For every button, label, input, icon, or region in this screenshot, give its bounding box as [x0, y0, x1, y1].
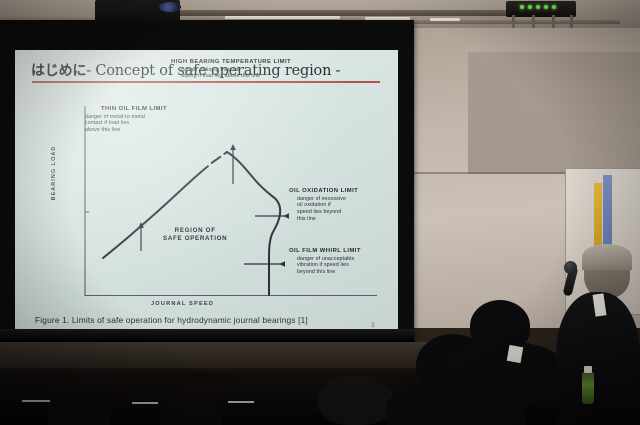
ceiling-light-slot — [225, 16, 340, 19]
curve-apex-dashed — [201, 162, 213, 172]
network-device — [506, 1, 576, 17]
projection-screen: はじめに- Concept of safe operating region - — [0, 20, 414, 345]
figure-chart: BEARING LOAD JOURNAL SPEED THIN OIL FILM… — [31, 92, 383, 310]
annotation-heading: OIL FILM WHIRL LIMIT — [289, 248, 361, 256]
annotation-oil-oxidation-limit: OIL OXIDATION LIMIT danger of excessive … — [289, 188, 358, 222]
annotation-body-line: beyond this line — [289, 269, 361, 276]
audience-member-right-shoulders — [446, 342, 566, 402]
presentation-photo: はじめに- Concept of safe operating region - — [0, 0, 640, 425]
microphone-head-icon — [564, 261, 577, 274]
chair — [48, 400, 110, 425]
annotation-heading: THIN OIL FILM LIMIT — [85, 106, 167, 114]
chair-highlight — [22, 400, 50, 402]
status-led-icon — [536, 5, 540, 9]
annotation-body-line: danger of metal-to-metal — [85, 114, 167, 121]
ceiling-light-slot — [430, 18, 460, 21]
curve-oil-oxidation-limit — [272, 196, 280, 234]
presentation-slide: はじめに- Concept of safe operating region - — [15, 50, 398, 345]
water-bottle — [582, 372, 594, 404]
annotation-body-line: speed lies beyond — [289, 209, 358, 216]
water-bottle-cap — [584, 366, 592, 373]
audience-member-right-collar — [507, 345, 524, 363]
presenter-hair — [582, 244, 632, 270]
x-axis-label: JOURNAL SPEED — [151, 301, 214, 307]
screen-bottom-bar — [0, 329, 414, 342]
annotation-heading: OIL OXIDATION LIMIT — [289, 188, 358, 196]
region-label-safe-operation: REGION OF SAFE OPERATION — [163, 227, 227, 244]
projector-lens-icon — [159, 2, 181, 12]
chair-highlight — [228, 401, 254, 403]
slide-page-number: 3 — [371, 322, 375, 329]
annotation-body-line: oil oxidation if — [289, 202, 358, 209]
audience-member-front-left — [318, 375, 394, 425]
annotation-heading: HIGH BEARING TEMPERATURE LIMIT — [171, 59, 291, 67]
annotation-high-bearing-temperature-limit: HIGH BEARING TEMPERATURE LIMIT danger of… — [171, 59, 291, 80]
chair — [160, 400, 222, 425]
curve-thin-oil-film-limit — [103, 172, 201, 258]
status-led-icon — [544, 5, 548, 9]
blackboard — [0, 342, 430, 370]
status-led-icon — [520, 5, 524, 9]
annotation-body-line: wiping if load lies above this line — [171, 73, 291, 80]
annotation-body-line: danger of unacceptable — [289, 256, 361, 263]
status-led-icon — [552, 5, 556, 9]
figure-caption: Figure 1. Limits of safe operation for h… — [35, 315, 308, 325]
title-underline-rule — [32, 81, 380, 83]
region-label-line: SAFE OPERATION — [163, 235, 227, 243]
annotation-body-line: contact if load lies — [85, 120, 167, 127]
annotation-body-line: this line — [289, 216, 358, 223]
annotation-body-line: danger of excessive — [289, 196, 358, 203]
annotation-oil-film-whirl-limit: OIL FILM WHIRL LIMIT danger of unaccepta… — [289, 248, 361, 276]
curve-high-bearing-temperature-limit — [227, 152, 272, 196]
slide-title-end-dash: - — [336, 63, 341, 79]
chair-highlight — [132, 402, 158, 404]
wall-panel — [468, 52, 640, 174]
slide-title-separator: - — [86, 63, 91, 79]
y-axis-label: BEARING LOAD — [51, 130, 57, 216]
annotation-thin-oil-film-limit: THIN OIL FILM LIMIT danger of metal-to-m… — [85, 106, 167, 134]
annotation-body-line: vibration if speed lies — [289, 262, 361, 269]
curve-apex-dashed — [213, 152, 227, 162]
arrow-head-up-icon — [230, 144, 236, 150]
annotation-body-line: danger of lining material — [171, 67, 291, 74]
region-label-line: REGION OF — [163, 227, 227, 235]
status-led-icon — [528, 5, 532, 9]
annotation-body-line: above this line — [85, 127, 167, 134]
arrow-head-left-icon — [279, 261, 285, 267]
slide-title-japanese: はじめに — [31, 63, 86, 79]
